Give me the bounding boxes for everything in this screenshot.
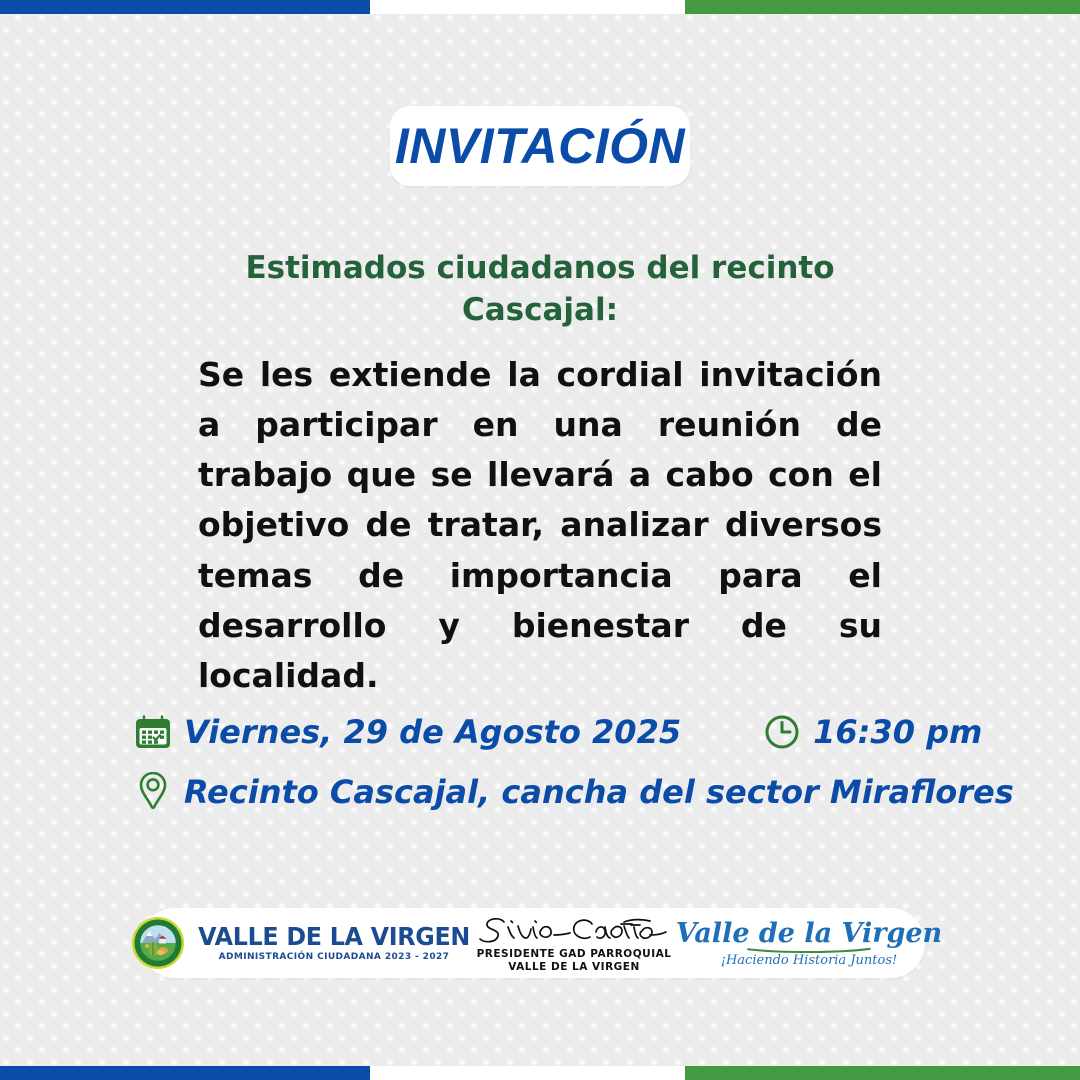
bottom-bar-white-segment <box>370 1066 685 1080</box>
bottom-bar-blue-segment <box>0 1066 370 1080</box>
event-time: 16:30 pm <box>813 713 982 751</box>
brand-name: Valle de la Virgen <box>676 920 942 947</box>
signature-mark-icon <box>474 913 674 947</box>
institution-name: VALLE DE LA VIRGEN <box>198 924 470 949</box>
event-date: Viernes, 29 de Agosto 2025 <box>184 713 681 751</box>
detail-row-location: Recinto Cascajal, cancha del sector Mira… <box>130 762 960 822</box>
signature-role-line1: PRESIDENTE GAD PARROQUIAL <box>477 948 672 960</box>
page-title: INVITACIÓN <box>395 117 685 175</box>
bottom-bar-green-segment <box>685 1066 1080 1080</box>
brand-logo: Valle de la Virgen ¡Haciendo Historia Ju… <box>694 908 924 978</box>
signature-role: PRESIDENTE GAD PARROQUIAL VALLE DE LA VI… <box>477 948 672 973</box>
institution-subtitle: ADMINISTRACIÓN CIUDADANA 2023 - 2027 <box>219 952 450 962</box>
event-location: Recinto Cascajal, cancha del sector Mira… <box>184 773 1014 811</box>
institution-logo: VALLE DE LA VIRGEN ADMINISTRACIÓN CIUDAD… <box>140 908 454 978</box>
signature-block: PRESIDENTE GAD PARROQUIAL VALLE DE LA VI… <box>454 908 694 978</box>
valle-de-la-virgen-seal-icon <box>131 916 185 970</box>
top-bar-blue-segment <box>0 0 370 14</box>
calendar-icon <box>130 709 176 755</box>
bottom-color-bar <box>0 1066 1080 1080</box>
footer-logo-bar: VALLE DE LA VIRGEN ADMINISTRACIÓN CIUDAD… <box>140 908 925 978</box>
invitation-poster: INVITACIÓN Estimados ciudadanos del reci… <box>0 0 1080 1080</box>
map-pin-icon <box>130 769 176 815</box>
brand-tagline: ¡Haciendo Historia Juntos! <box>721 954 897 967</box>
body-paragraph: Se les extiende la cordial invitación a … <box>198 350 882 701</box>
top-bar-white-segment <box>370 0 685 14</box>
signature-role-line2: VALLE DE LA VIRGEN <box>508 961 639 973</box>
top-color-bar <box>0 0 1080 14</box>
detail-group-time: 16:30 pm <box>759 709 982 755</box>
greeting-text: Estimados ciudadanos del recinto Cascaja… <box>190 248 890 332</box>
title-banner: INVITACIÓN <box>390 106 690 186</box>
brand-swoosh-icon <box>734 948 884 953</box>
clock-icon <box>759 709 805 755</box>
detail-row-date-time: Viernes, 29 de Agosto 2025 16:30 pm <box>130 702 960 762</box>
top-bar-green-segment <box>685 0 1080 14</box>
event-details: Viernes, 29 de Agosto 2025 16:30 pm Re <box>130 702 960 822</box>
